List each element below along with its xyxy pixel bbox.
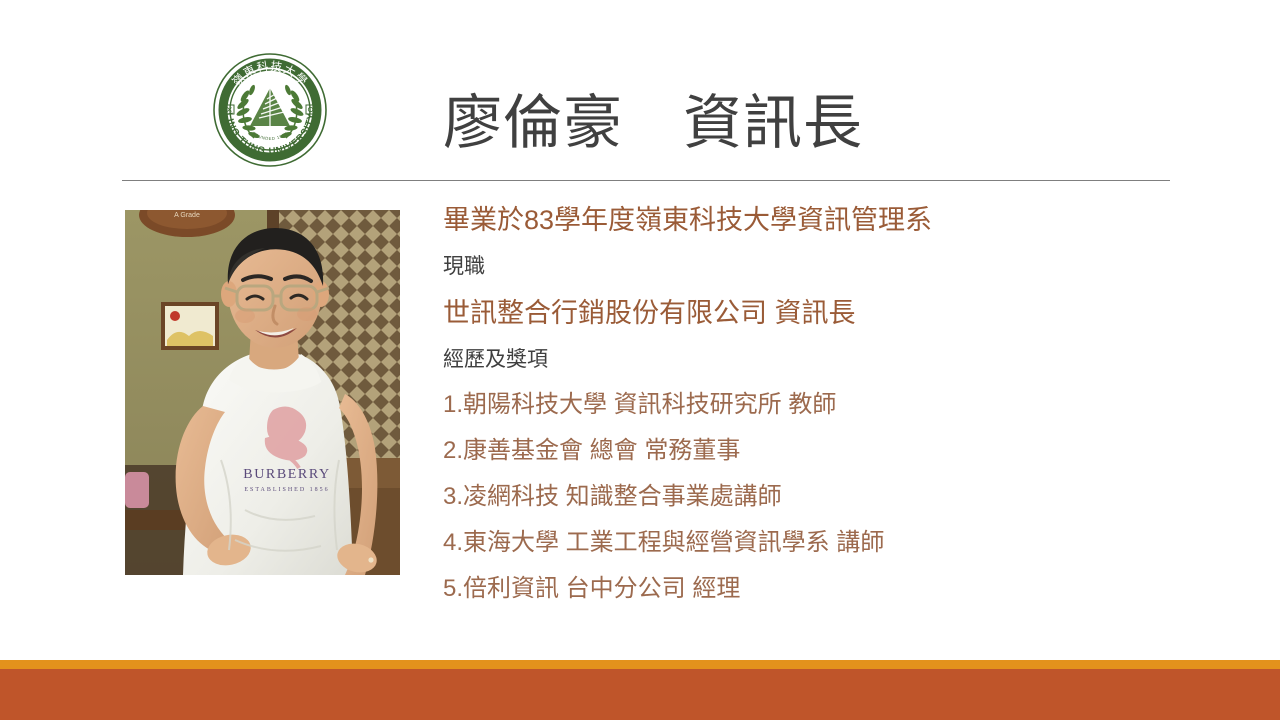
footer-band: [0, 669, 1280, 720]
page-title: 廖倫豪 資訊長: [443, 86, 863, 160]
experience-item: 3.凌網科技 知識整合事業處講師: [443, 474, 1203, 520]
current-position-value: 世訊整合行銷股份有限公司 資訊長: [443, 289, 1203, 338]
education-line: 畢業於83學年度嶺東科技大學資訊管理系: [443, 196, 1203, 245]
current-position-label: 現職: [443, 245, 1203, 289]
speaker-photo: A Grade: [125, 210, 400, 575]
slide-header: 嶺東科技大學 LING TUNG UNIVERSITY FOUNDED 1964: [0, 0, 1280, 181]
experience-item: 1.朝陽科技大學 資訊科技研究所 教師: [443, 382, 1203, 428]
slide-canvas: 嶺東科技大學 LING TUNG UNIVERSITY FOUNDED 1964: [0, 0, 1280, 720]
svg-text:A Grade: A Grade: [174, 212, 200, 219]
svg-text:ESTABLISHED 1856: ESTABLISHED 1856: [244, 487, 329, 493]
experience-item: 2.康善基金會 總會 常務董事: [443, 428, 1203, 474]
experience-item: 5.倍利資訊 台中分公司 經理: [443, 566, 1203, 612]
seal-icon: 嶺東科技大學 LING TUNG UNIVERSITY FOUNDED 1964: [212, 52, 328, 168]
portrait-photo-image: A Grade: [125, 210, 400, 575]
header-divider: [122, 180, 1170, 181]
experience-item: 4.東海大學 工業工程與經營資訊學系 講師: [443, 520, 1203, 566]
content-column: 畢業於83學年度嶺東科技大學資訊管理系 現職 世訊整合行銷股份有限公司 資訊長 …: [443, 196, 1203, 612]
svg-text:BURBERRY: BURBERRY: [243, 467, 331, 482]
experience-label: 經歷及獎項: [443, 338, 1203, 382]
university-seal-logo: 嶺東科技大學 LING TUNG UNIVERSITY FOUNDED 1964: [212, 52, 328, 168]
footer-accent-band: [0, 660, 1280, 669]
